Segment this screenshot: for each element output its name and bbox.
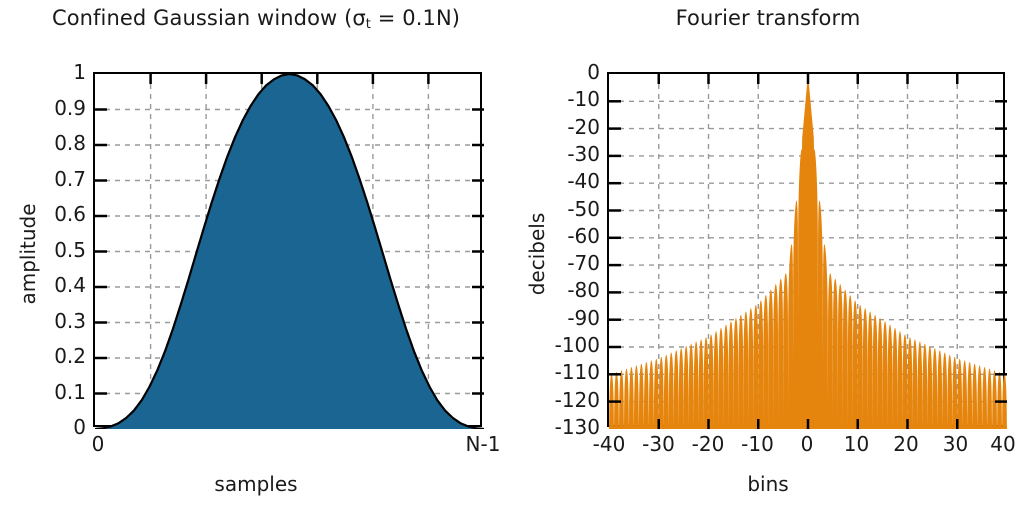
left-panel-title-subscript: t [366,17,371,32]
left-ytick-0.8: 0.8 [0,133,86,153]
right-xtick-10: 10 [844,434,869,454]
right-ytick-0: 0 [512,62,600,82]
left-xtick-n-1: N-1 [466,434,501,454]
left-axes-frame [93,72,482,427]
right-xtick--40: -40 [593,434,626,454]
left-plot-area [93,72,482,427]
right-plot-area [607,72,1005,427]
right-xtick--30: -30 [642,434,675,454]
right-plot-svg [609,74,1007,429]
right-ytick--10: -10 [512,89,600,109]
right-ytick--100: -100 [512,335,600,355]
right-xtick-0: 0 [801,434,814,454]
left-xtick-labels: 0 N-1 [0,434,512,464]
left-panel-title-prefix: Confined Gaussian window (σ [52,6,366,30]
spectrum-fill-area [609,74,1007,429]
right-xtick-30: 30 [943,434,968,454]
right-xtick-20: 20 [893,434,918,454]
left-ytick-0.6: 0.6 [0,204,86,224]
figure-canvas: Confined Gaussian window (σt = 0.1N) 1 0… [0,0,1024,512]
left-ytick-0.7: 0.7 [0,169,86,189]
left-panel-title-suffix: = 0.1N) [371,6,460,30]
panel-confined-gaussian-window: Confined Gaussian window (σt = 0.1N) 1 0… [0,0,512,512]
left-ytick-0.9: 0.9 [0,98,86,118]
left-axis-label-amplitude: amplitude [16,184,40,324]
right-xtick--10: -10 [741,434,774,454]
left-ytick-0.3: 0.3 [0,311,86,331]
right-ytick--110: -110 [512,362,600,382]
left-ytick-0.4: 0.4 [0,275,86,295]
right-axes-frame [607,72,1005,427]
right-ytick--120: -120 [512,390,600,410]
left-plot-svg [95,74,484,429]
panel-fourier-transform: Fourier transform 0 -10 -20 -30 -40 -50 … [512,0,1024,512]
right-axis-label-bins: bins [512,472,1024,496]
right-axis-label-decibels: decibels [525,184,549,324]
left-xtick-0: 0 [92,434,105,454]
right-ytick--30: -30 [512,144,600,164]
right-xtick--20: -20 [692,434,725,454]
right-ytick--20: -20 [512,117,600,137]
left-ytick-0.5: 0.5 [0,240,86,260]
left-ytick-0.1: 0.1 [0,382,86,402]
left-axis-label-samples: samples [0,472,512,496]
left-ytick-1: 1 [0,62,86,82]
left-ytick-0.2: 0.2 [0,346,86,366]
right-xtick-labels: -40 -30 -20 -10 0 10 20 30 40 [512,434,1024,464]
right-xtick-40: 40 [990,434,1015,454]
